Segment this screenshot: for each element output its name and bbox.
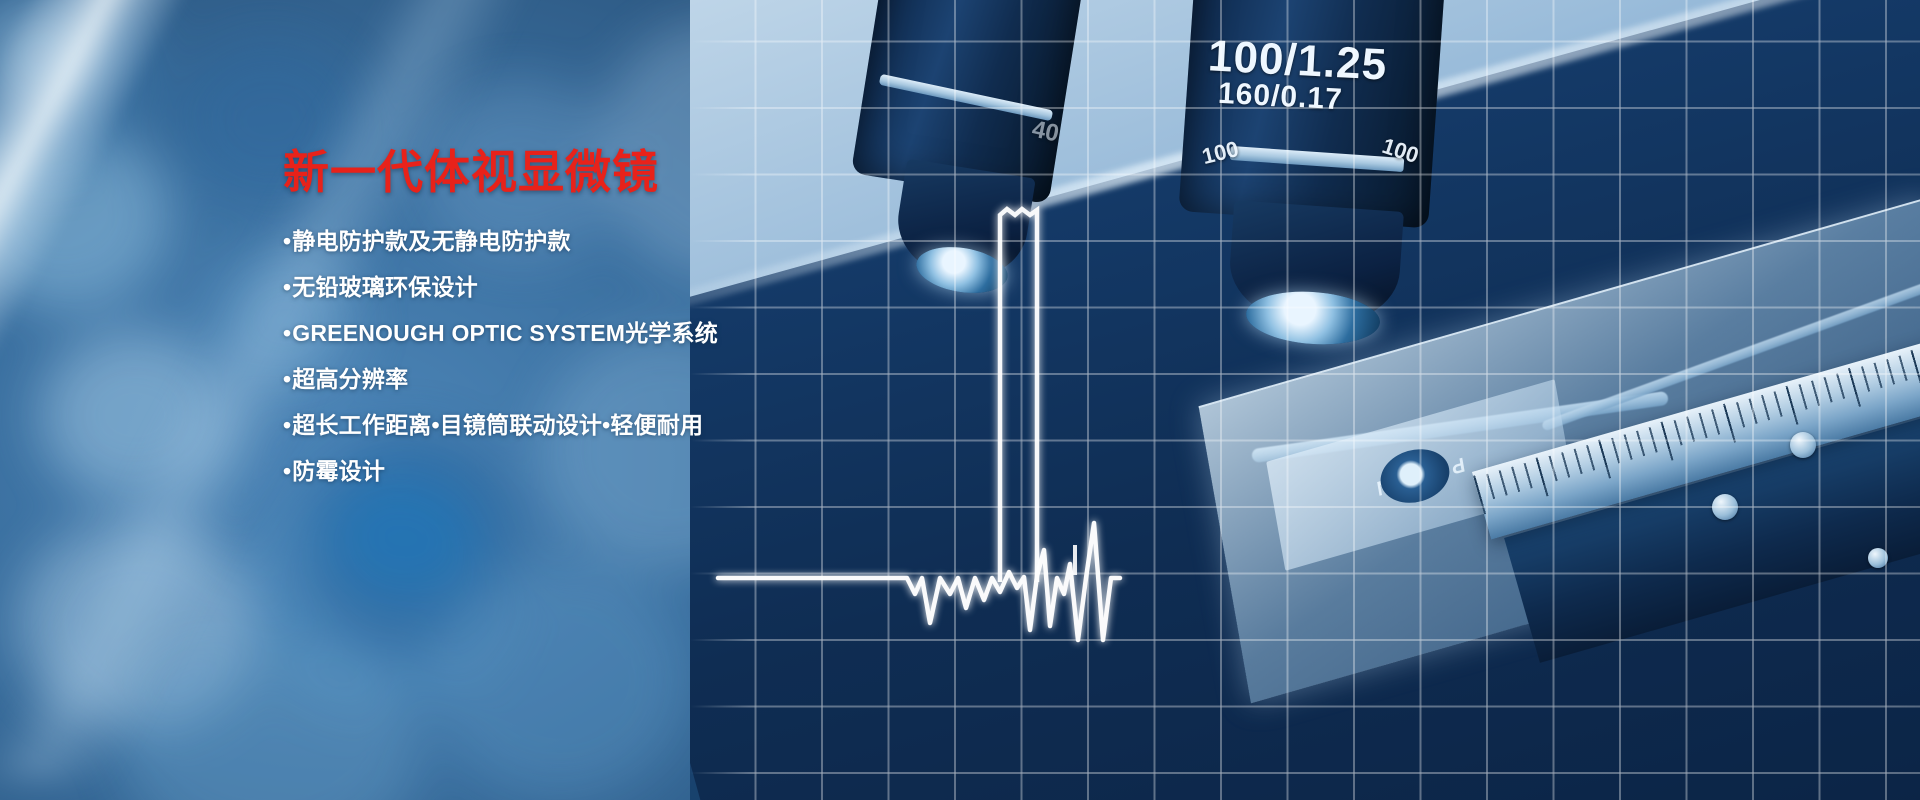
page-title: 新一代体视显微镜 xyxy=(283,148,803,196)
stage-screw xyxy=(1790,432,1816,458)
stage-screw xyxy=(1868,548,1888,568)
objective-right-spec-secondary: 160/0.17 xyxy=(1217,77,1343,117)
bullet-dot-icon: • xyxy=(283,228,291,254)
marketing-copy: 新一代体视显微镜 •静电防护款及无静电防护款•无铅玻璃环保设计•GREENOUG… xyxy=(283,148,803,506)
feature-bullet-label: GREENOUGH OPTIC SYSTEM光学系统 xyxy=(292,320,718,346)
feature-bullet-label: 超长工作距离•目镜筒联动设计•轻便耐用 xyxy=(292,412,703,438)
feature-bullet-label: 静电防护款及无静电防护款 xyxy=(292,228,570,254)
microscope-photo: POLLEN 40 100/1.25 160/0.17 100 xyxy=(690,0,1920,800)
feature-bullet-label: 超高分辨率 xyxy=(292,366,408,392)
feature-bullet: •防霉设计 xyxy=(283,460,803,483)
feature-bullet-label: 防霉设计 xyxy=(292,458,385,484)
feature-bullet: •超长工作距离•目镜筒联动设计•轻便耐用 xyxy=(283,414,803,437)
feature-bullet: •无铅玻璃环保设计 xyxy=(283,276,803,299)
feature-bullet-label: 无铅玻璃环保设计 xyxy=(292,274,478,300)
bullet-dot-icon: • xyxy=(283,274,291,300)
bullet-dot-icon: • xyxy=(283,412,291,438)
bullet-dot-icon: • xyxy=(283,320,291,346)
stage-screw xyxy=(1712,494,1738,520)
product-hero-banner: POLLEN 40 100/1.25 160/0.17 100 xyxy=(0,0,1920,800)
bullet-dot-icon: • xyxy=(283,366,291,392)
feature-bullet: •静电防护款及无静电防护款 xyxy=(283,230,803,253)
feature-bullet: •GREENOUGH OPTIC SYSTEM光学系统 xyxy=(283,322,803,345)
bullet-dot-icon: • xyxy=(283,458,291,484)
objective-left-magnification: 40 xyxy=(1029,116,1061,149)
feature-list: •静电防护款及无静电防护款•无铅玻璃环保设计•GREENOUGH OPTIC S… xyxy=(283,230,803,483)
feature-bullet: •超高分辨率 xyxy=(283,368,803,391)
